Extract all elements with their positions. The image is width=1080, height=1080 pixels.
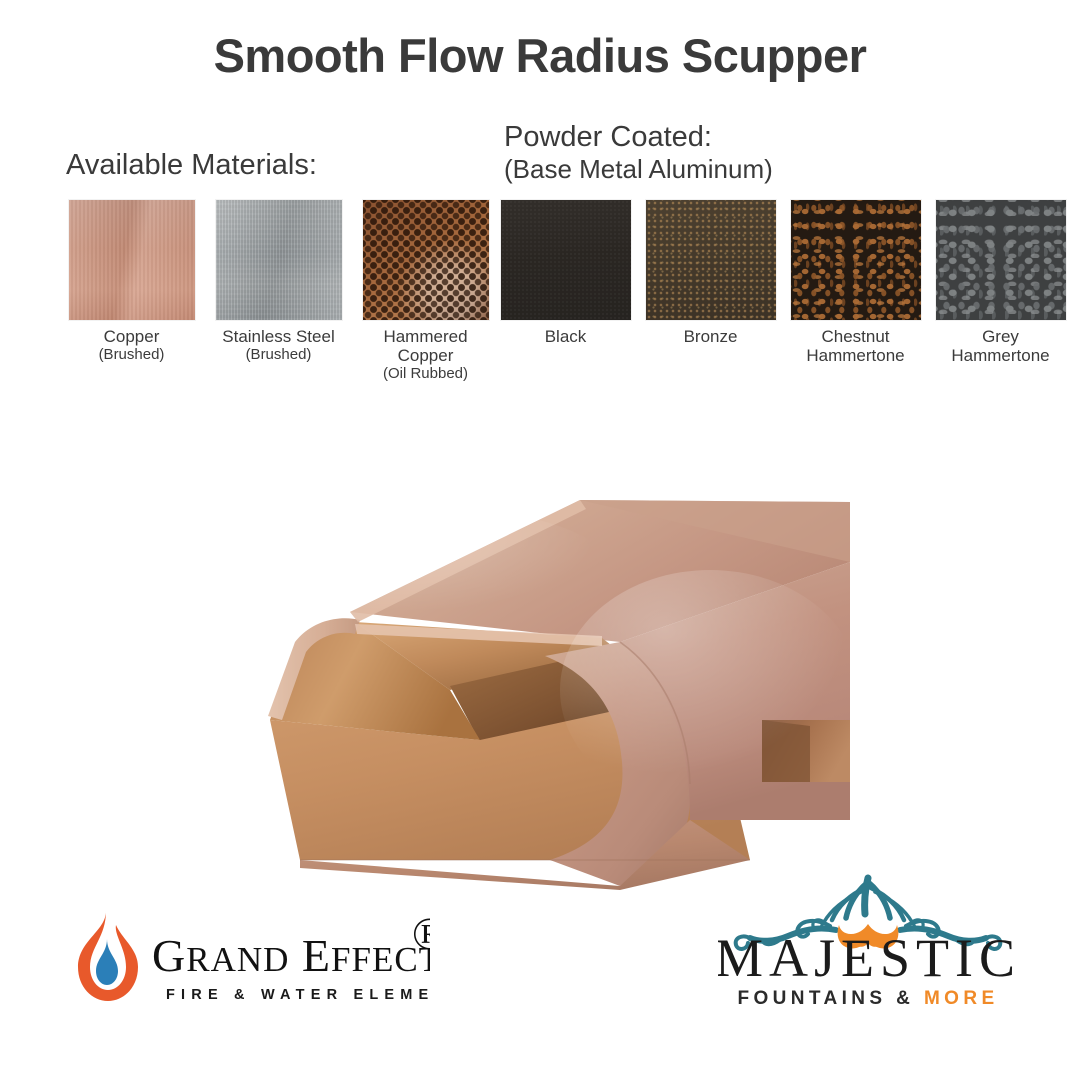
available-materials-heading: Available Materials: xyxy=(66,150,317,181)
powder-coated-swatch-group: Black Bronze Chestnut Hammertone Grey Ha… xyxy=(498,200,1068,365)
majestic-wordmark: MAJESTIC xyxy=(718,928,1018,988)
powder-coated-heading: Powder Coated: xyxy=(504,122,712,153)
swatch-sublabel-hammered-copper: (Oil Rubbed) xyxy=(358,365,493,382)
swatch-label-bronze: Bronze xyxy=(643,327,778,346)
swatch-item-bronze[interactable]: Bronze xyxy=(643,200,778,365)
swatch-label-grey-hammertone: Grey Hammertone xyxy=(933,327,1068,365)
registered-mark-icon: ® xyxy=(412,908,430,959)
swatch-item-grey-hammertone[interactable]: Grey Hammertone xyxy=(933,200,1068,365)
poster-canvas: Smooth Flow Radius Scupper Available Mat… xyxy=(0,0,1080,1080)
majestic-tagline: FOUNTAINS & MORE xyxy=(737,988,998,1009)
swatch-item-copper[interactable]: Copper (Brushed) xyxy=(64,200,199,382)
copper-radius-scupper-photo xyxy=(150,390,950,890)
swatch-label-stainless-steel: Stainless Steel (Brushed) xyxy=(211,327,346,363)
black-powder-coat-swatch[interactable] xyxy=(501,200,631,320)
water-drop-icon xyxy=(96,939,118,985)
majestic-fountains-logo: MAJESTIC FOUNTAINS & MORE xyxy=(718,868,1018,1013)
powder-coated-subheading: (Base Metal Aluminum) xyxy=(504,155,773,183)
grand-effects-tagline: FIRE & WATER ELEMENTS xyxy=(166,987,430,1003)
swatch-item-stainless-steel[interactable]: Stainless Steel (Brushed) xyxy=(211,200,346,382)
page-title: Smooth Flow Radius Scupper xyxy=(0,30,1080,82)
swatch-label-chestnut-hammertone: Chestnut Hammertone xyxy=(788,327,923,365)
swatch-item-chestnut-hammertone[interactable]: Chestnut Hammertone xyxy=(788,200,923,365)
stainless-steel-brushed-swatch[interactable] xyxy=(216,200,342,320)
swatch-sublabel-copper: (Brushed) xyxy=(64,346,199,363)
grand-effects-logo: GRAND EFFECTS ® FIRE & WATER ELEMENTS xyxy=(70,905,430,1010)
swatch-label-hammered-copper: Hammered Copper (Oil Rubbed) xyxy=(358,327,493,382)
swatch-item-hammered-copper[interactable]: Hammered Copper (Oil Rubbed) xyxy=(358,200,493,382)
copper-brushed-swatch[interactable] xyxy=(69,200,195,320)
hammered-copper-swatch[interactable] xyxy=(363,200,489,320)
swatch-item-black[interactable]: Black xyxy=(498,200,633,365)
scupper-gloss-highlight-2 xyxy=(290,510,610,630)
grey-hammertone-swatch[interactable] xyxy=(936,200,1066,320)
swatch-label-copper: Copper (Brushed) xyxy=(64,327,199,363)
bronze-powder-coat-swatch[interactable] xyxy=(646,200,776,320)
available-materials-swatch-group: Copper (Brushed) Stainless Steel (Brushe… xyxy=(64,200,493,382)
scupper-gloss-highlight xyxy=(560,570,860,810)
grand-effects-wordmark: GRAND EFFECTS xyxy=(152,930,430,981)
swatch-label-black: Black xyxy=(498,327,633,346)
swatch-sublabel-stainless-steel: (Brushed) xyxy=(211,346,346,363)
chestnut-hammertone-swatch[interactable] xyxy=(791,200,921,320)
